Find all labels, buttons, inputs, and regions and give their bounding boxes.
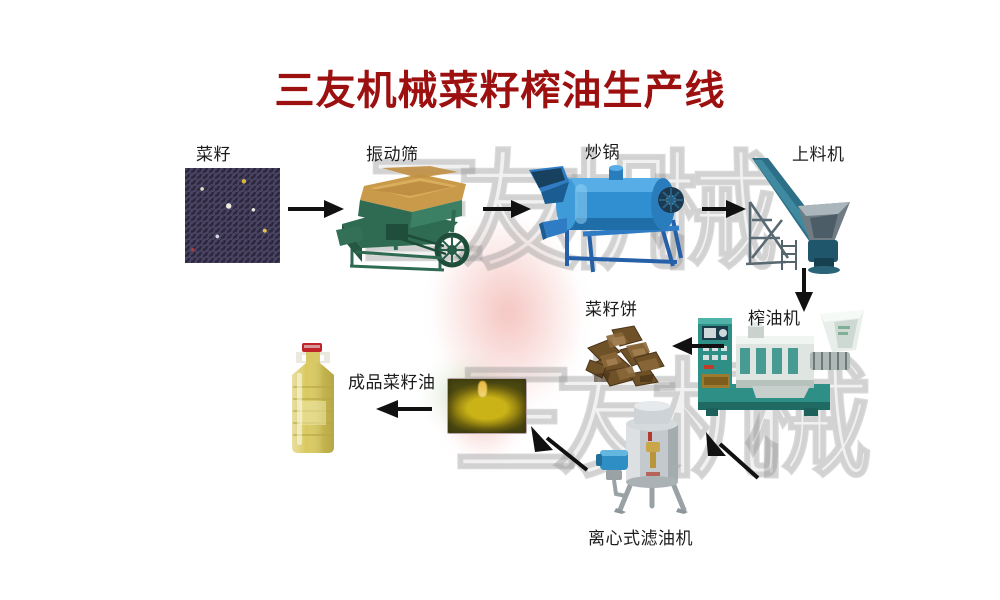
arrow-press-to-cake xyxy=(672,335,724,357)
label-cake: 菜籽饼 xyxy=(585,295,638,320)
label-filter: 离心式滤油机 xyxy=(588,524,693,549)
arrow-oilpan-to-jug xyxy=(376,398,432,420)
flow-diagram-canvas: 三 友 机 械 三 友 机 械 三友机械菜籽榨油生产线 菜籽 振动筛 炒锅 上料… xyxy=(0,0,1000,600)
node-image-centrifugal-filter xyxy=(590,398,710,516)
node-image-vibrating-screen xyxy=(334,166,474,278)
node-image-seeds xyxy=(185,168,280,263)
node-image-rapeseed-cake xyxy=(576,310,676,394)
node-image-roaster xyxy=(523,162,691,274)
arrow-press-to-filter xyxy=(700,430,760,480)
label-roaster: 炒锅 xyxy=(585,138,620,163)
node-image-elevator xyxy=(742,158,862,276)
node-image-oil-pan xyxy=(447,378,527,434)
arrow-filter-to-oilpan xyxy=(527,424,589,472)
arrow-roaster-to-elevator xyxy=(702,198,746,220)
label-jug: 成品菜籽油 xyxy=(348,368,436,393)
arrow-elevator-to-press xyxy=(793,268,815,312)
arrow-screen-to-roaster xyxy=(483,198,531,220)
label-screen: 振动筛 xyxy=(366,140,419,165)
page-title: 三友机械菜籽榨油生产线 xyxy=(0,58,1000,116)
node-image-oil-jug xyxy=(284,343,342,455)
label-elevator: 上料机 xyxy=(792,140,845,165)
label-seeds: 菜籽 xyxy=(196,140,231,165)
arrow-seeds-to-screen xyxy=(288,198,344,220)
